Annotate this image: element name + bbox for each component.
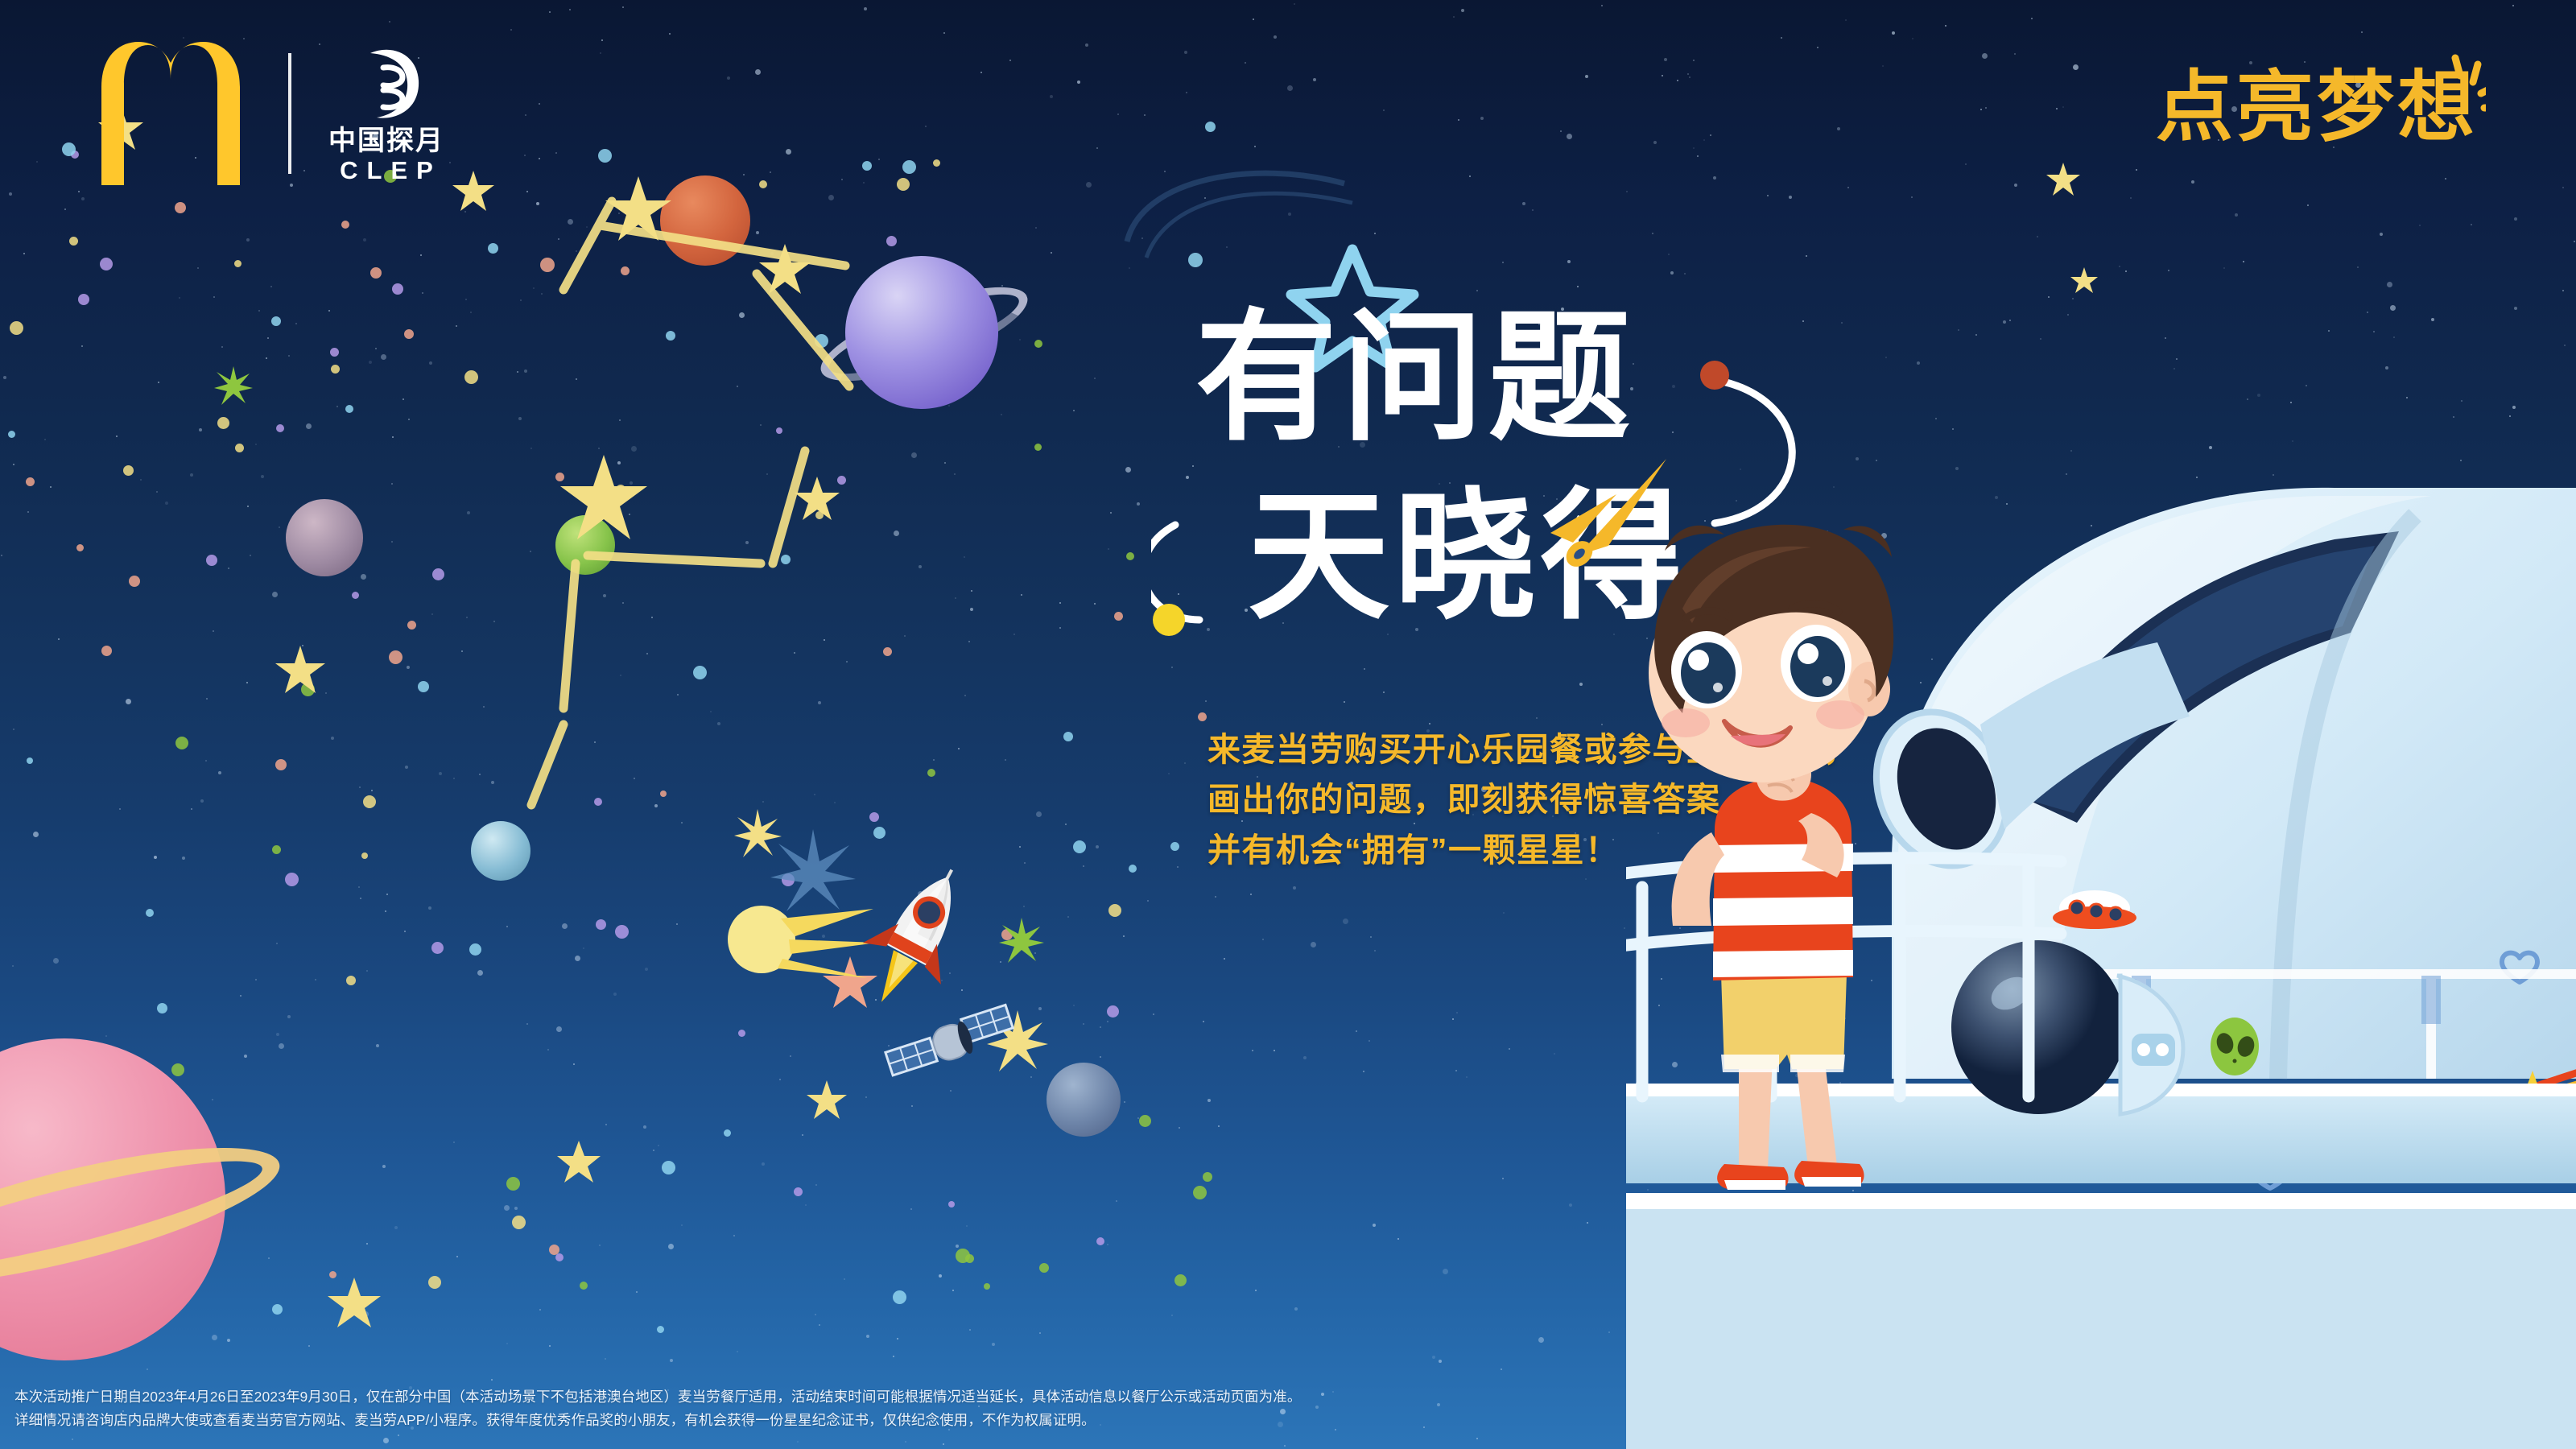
legal-line-1: 本次活动推广日期自2023年4月26日至2023年9月30日，仅在部分中国（本活… — [14, 1385, 1431, 1408]
golden-arches-icon — [90, 42, 251, 185]
star-icon — [2069, 266, 2099, 296]
poster-canvas: 中国探月 CLEP 点亮梦想 有问题 — [0, 0, 2576, 1449]
logo-divider — [288, 53, 291, 174]
eye-right — [1781, 625, 1851, 702]
star-icon — [793, 475, 841, 523]
eye-left — [1671, 631, 1742, 708]
clep-name-cn: 中国探月 — [328, 127, 444, 155]
legal-text: 本次活动推广日期自2023年4月26日至2023年9月30日，仅在部分中国（本活… — [14, 1385, 1431, 1431]
clep-moon-icon — [346, 43, 427, 124]
orbit-planet-yellow — [1153, 604, 1185, 636]
campaign-badge-text: 点亮梦想 — [2156, 62, 2478, 152]
star-icon — [451, 169, 496, 214]
star-icon — [274, 644, 327, 697]
legal-line-2: 详细情况请咨询店内品牌大使或查看麦当劳官方网站、麦当劳APP/小程序。获得年度优… — [14, 1409, 1431, 1431]
star-icon — [757, 242, 813, 298]
star-icon — [602, 173, 675, 246]
star-icon — [555, 1139, 602, 1186]
burst-star-icon — [998, 918, 1045, 964]
clep-name-en: CLEP — [331, 158, 442, 184]
planet-blue-small — [1046, 1063, 1121, 1137]
logo-bar: 中国探月 CLEP — [90, 42, 444, 185]
burst-star-icon — [213, 366, 254, 407]
star-icon — [555, 451, 652, 547]
star-icon — [2045, 161, 2082, 198]
star-icon — [805, 1079, 848, 1122]
headline-line-2: 天晓得 — [1248, 474, 1687, 639]
headline-line-1: 有问题 — [1195, 295, 1635, 460]
satellite-icon — [877, 990, 1022, 1095]
campaign-badge: 点亮梦想 — [2148, 47, 2486, 159]
burst-star-icon — [733, 809, 782, 859]
observatory-scene: China — [1626, 411, 2576, 1449]
clep-logo: 中国探月 CLEP — [328, 43, 444, 184]
star-icon — [326, 1276, 382, 1332]
alien-head-sticker — [2211, 1018, 2259, 1075]
striped-shirt — [1713, 778, 1853, 980]
orbit-planet-red — [1700, 361, 1729, 390]
